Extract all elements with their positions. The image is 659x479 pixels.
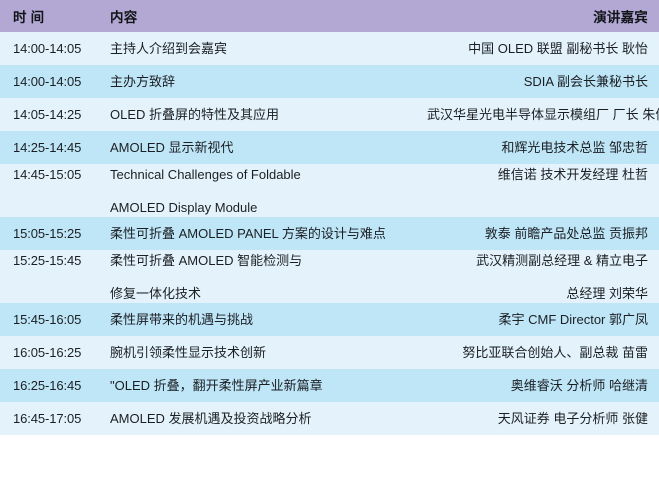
cell-time: 14:05-14:25 bbox=[0, 98, 97, 131]
table-row: 14:45-15:05 Technical Challenges of Fold… bbox=[0, 164, 659, 217]
column-header-topic: 内容 bbox=[97, 0, 427, 32]
cell-guest: 敦泰 前瞻产品处总监 贡振邦 bbox=[427, 217, 659, 250]
cell-guest: 维信诺 技术开发经理 杜哲 bbox=[427, 164, 659, 217]
table-row: 14:25-14:45AMOLED 显示新视代和辉光电技术总监 邹忠哲 bbox=[0, 131, 659, 164]
cell-topic-line: OLED 折叠屏的特性及其应用 bbox=[110, 106, 427, 123]
cell-guest: SDIA 副会长兼秘书长 bbox=[427, 65, 659, 98]
cell-guest: 武汉精测副总经理 & 精立电子总经理 刘荣华 bbox=[427, 250, 659, 303]
cell-guest-line: 武汉华星光电半导体显示模组厂 厂长 朱信庆 bbox=[427, 106, 648, 123]
cell-topic-line: 修复一体化技术 bbox=[110, 285, 427, 302]
cell-guest-line: 天风证券 电子分析师 张健 bbox=[427, 410, 648, 427]
cell-time-line: 16:45-17:05 bbox=[13, 410, 97, 427]
cell-guest: 努比亚联合创始人、副总裁 苗雷 bbox=[427, 336, 659, 369]
table-row: 14:05-14:25OLED 折叠屏的特性及其应用武汉华星光电半导体显示模组厂… bbox=[0, 98, 659, 131]
cell-time-line: 14:00-14:05 bbox=[13, 40, 97, 57]
table-row: 16:25-16:45"OLED 折叠，翻开柔性屏产业新篇章奥维睿沃 分析师 哈… bbox=[0, 369, 659, 402]
cell-topic: 柔性可折叠 AMOLED 智能检测与修复一体化技术 bbox=[97, 250, 427, 303]
cell-time: 16:05-16:25 bbox=[0, 336, 97, 369]
cell-topic: 柔性屏带来的机遇与挑战 bbox=[97, 303, 427, 336]
cell-guest-line: 维信诺 技术开发经理 杜哲 bbox=[427, 166, 648, 183]
cell-time: 14:00-14:05 bbox=[0, 32, 97, 65]
table-row: 15:05-15:25柔性可折叠 AMOLED PANEL 方案的设计与难点敦泰… bbox=[0, 217, 659, 250]
cell-time-line: 15:45-16:05 bbox=[13, 311, 97, 328]
cell-guest: 柔宇 CMF Director 郭广凤 bbox=[427, 303, 659, 336]
cell-topic: AMOLED 发展机遇及投资战略分析 bbox=[97, 402, 427, 435]
cell-topic-line: AMOLED 显示新视代 bbox=[110, 139, 427, 156]
table-row: 14:00-14:05主持人介绍到会嘉宾中国 OLED 联盟 副秘书长 耿怡 bbox=[0, 32, 659, 65]
cell-topic: 柔性可折叠 AMOLED PANEL 方案的设计与难点 bbox=[97, 217, 427, 250]
cell-topic: OLED 折叠屏的特性及其应用 bbox=[97, 98, 427, 131]
table-header: 时 间 内容 演讲嘉宾 bbox=[0, 0, 659, 32]
cell-guest-line: 总经理 刘荣华 bbox=[427, 285, 648, 302]
cell-guest: 武汉华星光电半导体显示模组厂 厂长 朱信庆 bbox=[427, 98, 659, 131]
cell-time: 16:25-16:45 bbox=[0, 369, 97, 402]
cell-topic: Technical Challenges of FoldableAMOLED D… bbox=[97, 164, 427, 217]
cell-time-line: 16:05-16:25 bbox=[13, 344, 97, 361]
cell-topic-line: Technical Challenges of Foldable bbox=[110, 166, 427, 183]
cell-topic-line: AMOLED 发展机遇及投资战略分析 bbox=[110, 410, 427, 427]
table-body: 14:00-14:05主持人介绍到会嘉宾中国 OLED 联盟 副秘书长 耿怡14… bbox=[0, 32, 659, 435]
cell-time: 16:45-17:05 bbox=[0, 402, 97, 435]
cell-time-line: 14:00-14:05 bbox=[13, 73, 97, 90]
cell-time-line: 14:25-14:45 bbox=[13, 139, 97, 156]
cell-time: 14:00-14:05 bbox=[0, 65, 97, 98]
table-row: 15:25-15:45 柔性可折叠 AMOLED 智能检测与修复一体化技术武汉精… bbox=[0, 250, 659, 303]
cell-guest-line: 奥维睿沃 分析师 哈继清 bbox=[427, 377, 648, 394]
conference-agenda-table: 时 间 内容 演讲嘉宾 14:00-14:05主持人介绍到会嘉宾中国 OLED … bbox=[0, 0, 659, 435]
cell-guest-line: SDIA 副会长兼秘书长 bbox=[427, 73, 648, 90]
cell-guest-line: 武汉精测副总经理 & 精立电子 bbox=[427, 252, 648, 269]
cell-time: 15:25-15:45 bbox=[0, 250, 97, 303]
table-row: 16:45-17:05AMOLED 发展机遇及投资战略分析天风证券 电子分析师 … bbox=[0, 402, 659, 435]
cell-time-line: 14:05-14:25 bbox=[13, 106, 97, 123]
cell-guest-line: 努比亚联合创始人、副总裁 苗雷 bbox=[427, 344, 648, 361]
cell-guest-line: 敦泰 前瞻产品处总监 贡振邦 bbox=[427, 225, 648, 242]
cell-topic-line: 柔性屏带来的机遇与挑战 bbox=[110, 311, 427, 328]
cell-topic-line: AMOLED Display Module bbox=[110, 199, 427, 216]
table-row: 16:05-16:25腕机引领柔性显示技术创新努比亚联合创始人、副总裁 苗雷 bbox=[0, 336, 659, 369]
cell-topic: 主办方致辞 bbox=[97, 65, 427, 98]
header-row: 时 间 内容 演讲嘉宾 bbox=[0, 0, 659, 32]
cell-guest-line bbox=[427, 199, 648, 216]
cell-time-line: 15:25-15:45 bbox=[13, 252, 97, 269]
cell-time-line: 15:05-15:25 bbox=[13, 225, 97, 242]
cell-time: 15:45-16:05 bbox=[0, 303, 97, 336]
cell-time: 15:05-15:25 bbox=[0, 217, 97, 250]
cell-guest: 天风证券 电子分析师 张健 bbox=[427, 402, 659, 435]
cell-guest: 中国 OLED 联盟 副秘书长 耿怡 bbox=[427, 32, 659, 65]
cell-topic: 主持人介绍到会嘉宾 bbox=[97, 32, 427, 65]
cell-topic-line: 腕机引领柔性显示技术创新 bbox=[110, 344, 427, 361]
cell-guest: 和辉光电技术总监 邹忠哲 bbox=[427, 131, 659, 164]
cell-topic-line: 主办方致辞 bbox=[110, 73, 427, 90]
table-row: 14:00-14:05主办方致辞SDIA 副会长兼秘书长 bbox=[0, 65, 659, 98]
cell-time: 14:25-14:45 bbox=[0, 131, 97, 164]
column-header-time: 时 间 bbox=[0, 0, 97, 32]
cell-topic: "OLED 折叠，翻开柔性屏产业新篇章 bbox=[97, 369, 427, 402]
cell-time-line: 16:25-16:45 bbox=[13, 377, 97, 394]
cell-guest-line: 和辉光电技术总监 邹忠哲 bbox=[427, 139, 648, 156]
cell-guest-line: 柔宇 CMF Director 郭广凤 bbox=[427, 311, 648, 328]
table-row: 15:45-16:05柔性屏带来的机遇与挑战柔宇 CMF Director 郭广… bbox=[0, 303, 659, 336]
cell-topic-line: "OLED 折叠，翻开柔性屏产业新篇章 bbox=[110, 377, 427, 394]
cell-time-line: 14:45-15:05 bbox=[13, 166, 97, 183]
cell-guest-line: 中国 OLED 联盟 副秘书长 耿怡 bbox=[427, 40, 648, 57]
cell-topic: AMOLED 显示新视代 bbox=[97, 131, 427, 164]
column-header-guest: 演讲嘉宾 bbox=[427, 0, 659, 32]
cell-guest: 奥维睿沃 分析师 哈继清 bbox=[427, 369, 659, 402]
cell-topic: 腕机引领柔性显示技术创新 bbox=[97, 336, 427, 369]
cell-topic-line: 主持人介绍到会嘉宾 bbox=[110, 40, 427, 57]
cell-topic-line: 柔性可折叠 AMOLED 智能检测与 bbox=[110, 252, 427, 269]
cell-time: 14:45-15:05 bbox=[0, 164, 97, 217]
cell-topic-line: 柔性可折叠 AMOLED PANEL 方案的设计与难点 bbox=[110, 225, 427, 242]
